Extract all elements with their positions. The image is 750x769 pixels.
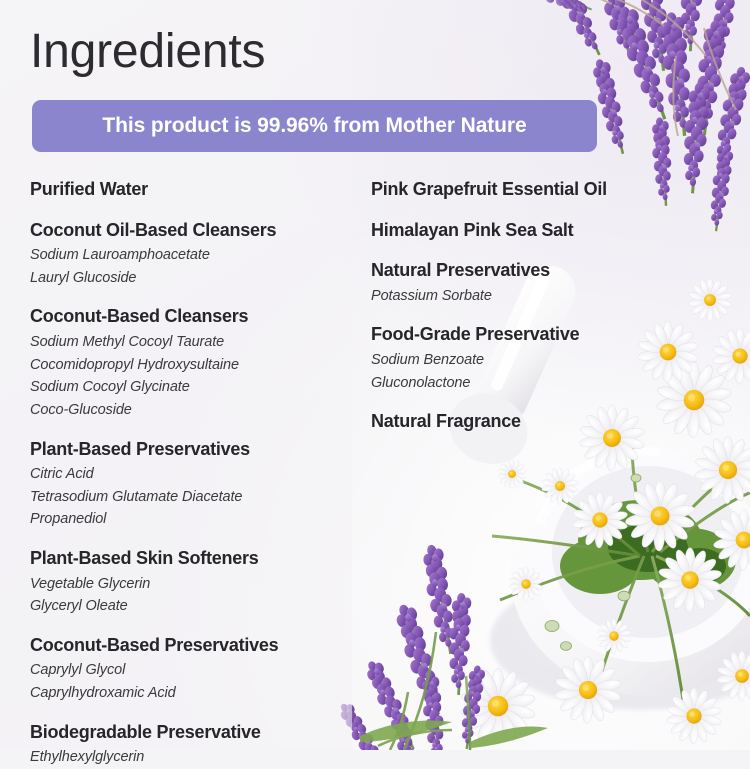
ingredient-sublist: Caprylyl GlycolCaprylhydroxamic Acid <box>30 659 360 704</box>
ingredient-group-title: Coconut Oil-Based Cleansers <box>30 217 360 244</box>
ingredient-group-title: Natural Preservatives <box>371 257 721 284</box>
ingredient-sub-item: Sodium Cocoyl Glycinate <box>30 376 360 399</box>
ingredient-sublist: Sodium Methyl Cocoyl TaurateCocomidoprop… <box>30 331 360 421</box>
ingredient-sub-item: Gluconolactone <box>371 372 721 395</box>
ingredient-group-title: Purified Water <box>30 176 360 203</box>
ingredient-group: Food-Grade PreservativeSodium BenzoateGl… <box>371 321 721 394</box>
ingredient-sub-item: Cocomidopropyl Hydroxysultaine <box>30 354 360 377</box>
ingredient-sublist: Sodium BenzoateGluconolactone <box>371 349 721 394</box>
ingredient-group-title: Food-Grade Preservative <box>371 321 721 348</box>
ingredient-sublist: Sodium LauroamphoacetateLauryl Glucoside <box>30 244 360 289</box>
ingredient-group-title: Plant-Based Skin Softeners <box>30 545 360 572</box>
ingredient-group-title: Coconut-Based Preservatives <box>30 632 360 659</box>
ingredient-group: Biodegradable PreservativeEthylhexylglyc… <box>30 719 360 769</box>
ingredient-group-title: Natural Fragrance <box>371 408 721 435</box>
ingredient-group-title: Pink Grapefruit Essential Oil <box>371 176 721 203</box>
ingredient-sub-item: Coco-Glucoside <box>30 399 360 422</box>
ingredient-group: Pink Grapefruit Essential Oil <box>371 176 721 203</box>
ingredient-sub-item: Sodium Benzoate <box>371 349 721 372</box>
ingredient-group: Plant-Based Skin SoftenersVegetable Glyc… <box>30 545 360 618</box>
ingredients-column-right: Pink Grapefruit Essential OilHimalayan P… <box>371 176 721 435</box>
nature-claim-text: This product is 99.96% from Mother Natur… <box>102 114 526 138</box>
ingredient-sub-item: Sodium Lauroamphoacetate <box>30 244 360 267</box>
ingredient-group: Himalayan Pink Sea Salt <box>371 217 721 244</box>
ingredient-sublist: Potassium Sorbate <box>371 285 721 308</box>
ingredient-sub-item: Citric Acid <box>30 463 360 486</box>
ingredient-sub-item: Caprylyl Glycol <box>30 659 360 682</box>
ingredient-group: Coconut Oil-Based CleansersSodium Lauroa… <box>30 217 360 290</box>
ingredient-sub-item: Lauryl Glucoside <box>30 267 360 290</box>
ingredient-group-title: Plant-Based Preservatives <box>30 436 360 463</box>
ingredients-column-left: Purified WaterCoconut Oil-Based Cleanser… <box>30 176 360 769</box>
ingredient-group-title: Himalayan Pink Sea Salt <box>371 217 721 244</box>
nature-claim-banner: This product is 99.96% from Mother Natur… <box>32 100 597 152</box>
ingredient-sub-item: Glyceryl Oleate <box>30 595 360 618</box>
ingredient-group: Coconut-Based CleansersSodium Methyl Coc… <box>30 303 360 421</box>
ingredient-group-title: Biodegradable Preservative <box>30 719 360 746</box>
ingredient-sublist: Vegetable GlycerinGlyceryl Oleate <box>30 573 360 618</box>
ingredient-sub-item: Tetrasodium Glutamate Diacetate <box>30 486 360 509</box>
ingredient-sub-item: Sodium Methyl Cocoyl Taurate <box>30 331 360 354</box>
ingredient-group-title: Coconut-Based Cleansers <box>30 303 360 330</box>
ingredient-group: Plant-Based PreservativesCitric AcidTetr… <box>30 436 360 531</box>
ingredient-sub-item: Caprylhydroxamic Acid <box>30 682 360 705</box>
ingredient-group: Natural Fragrance <box>371 408 721 435</box>
page-title: Ingredients <box>30 26 265 79</box>
ingredient-group: Coconut-Based PreservativesCaprylyl Glyc… <box>30 632 360 705</box>
ingredient-group: Natural PreservativesPotassium Sorbate <box>371 257 721 307</box>
ingredient-sub-item: Propanediol <box>30 508 360 531</box>
ingredient-sub-item: Potassium Sorbate <box>371 285 721 308</box>
ingredient-sub-item: Vegetable Glycerin <box>30 573 360 596</box>
ingredient-sublist: Citric AcidTetrasodium Glutamate Diaceta… <box>30 463 360 531</box>
ingredient-group: Purified Water <box>30 176 360 203</box>
